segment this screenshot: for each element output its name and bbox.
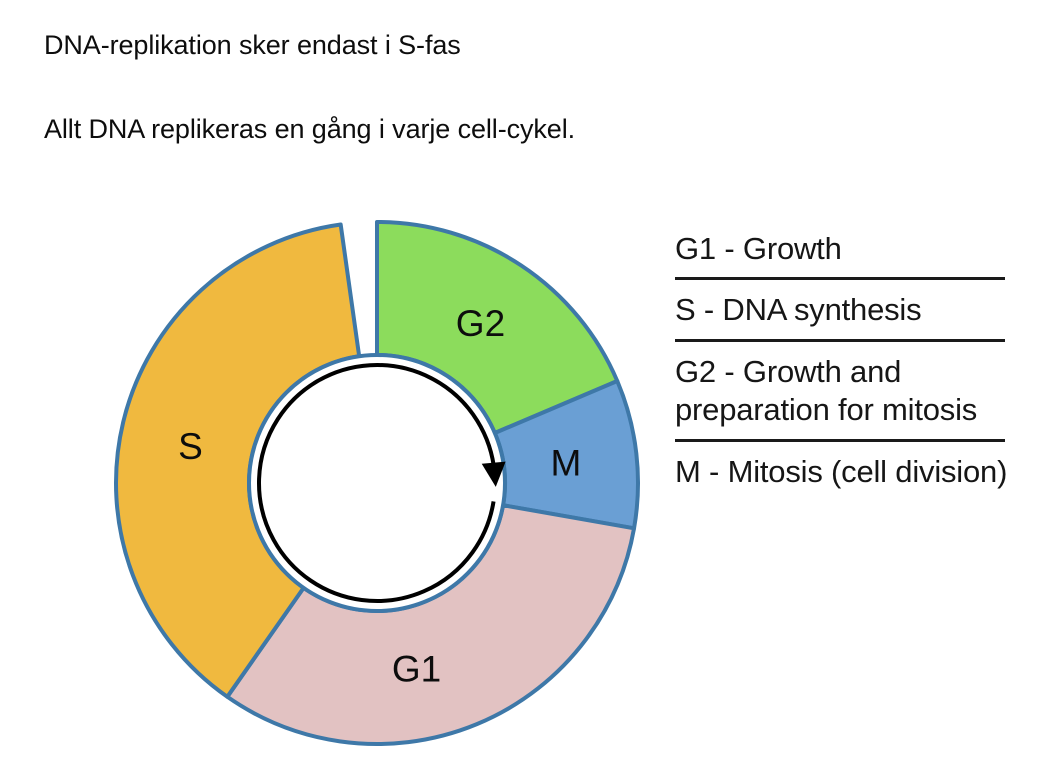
phase-legend: G1 - Growth S - DNA synthesis G2 - Growt…: [675, 228, 1023, 500]
legend-divider-2: [675, 339, 1005, 342]
donut-label-g2: G2: [456, 303, 505, 344]
legend-item-s: S - DNA synthesis: [675, 289, 1023, 338]
donut-label-g1: G1: [392, 648, 441, 689]
slide-text-block: DNA-replikation sker endast i S-fas Allt…: [44, 30, 904, 146]
donut-svg: G2MG1S: [108, 216, 646, 754]
heading-line-1: DNA-replikation sker endast i S-fas: [44, 30, 904, 62]
legend-divider-3: [675, 439, 1005, 442]
donut-label-s: S: [178, 426, 203, 467]
legend-item-m: M - Mitosis (cell division): [675, 451, 1023, 500]
heading-line-2: Allt DNA replikeras en gång i varje cell…: [44, 114, 904, 146]
donut-hole-group: [249, 355, 505, 611]
donut-inner-hole: [249, 355, 505, 611]
donut-label-m: M: [551, 443, 582, 484]
legend-divider-1: [675, 277, 1005, 280]
legend-item-g2-label: G2 - Growth and preparation for mitosis: [675, 353, 1023, 430]
cell-cycle-donut-chart: G2MG1S: [108, 216, 646, 754]
legend-item-g1-label: G1 - Growth: [675, 230, 1023, 268]
legend-item-g1: G1 - Growth: [675, 228, 1023, 277]
legend-item-g2: G2 - Growth and preparation for mitosis: [675, 351, 1023, 439]
legend-item-s-label: S - DNA synthesis: [675, 291, 1023, 329]
legend-item-m-label: M - Mitosis (cell division): [675, 453, 1023, 491]
